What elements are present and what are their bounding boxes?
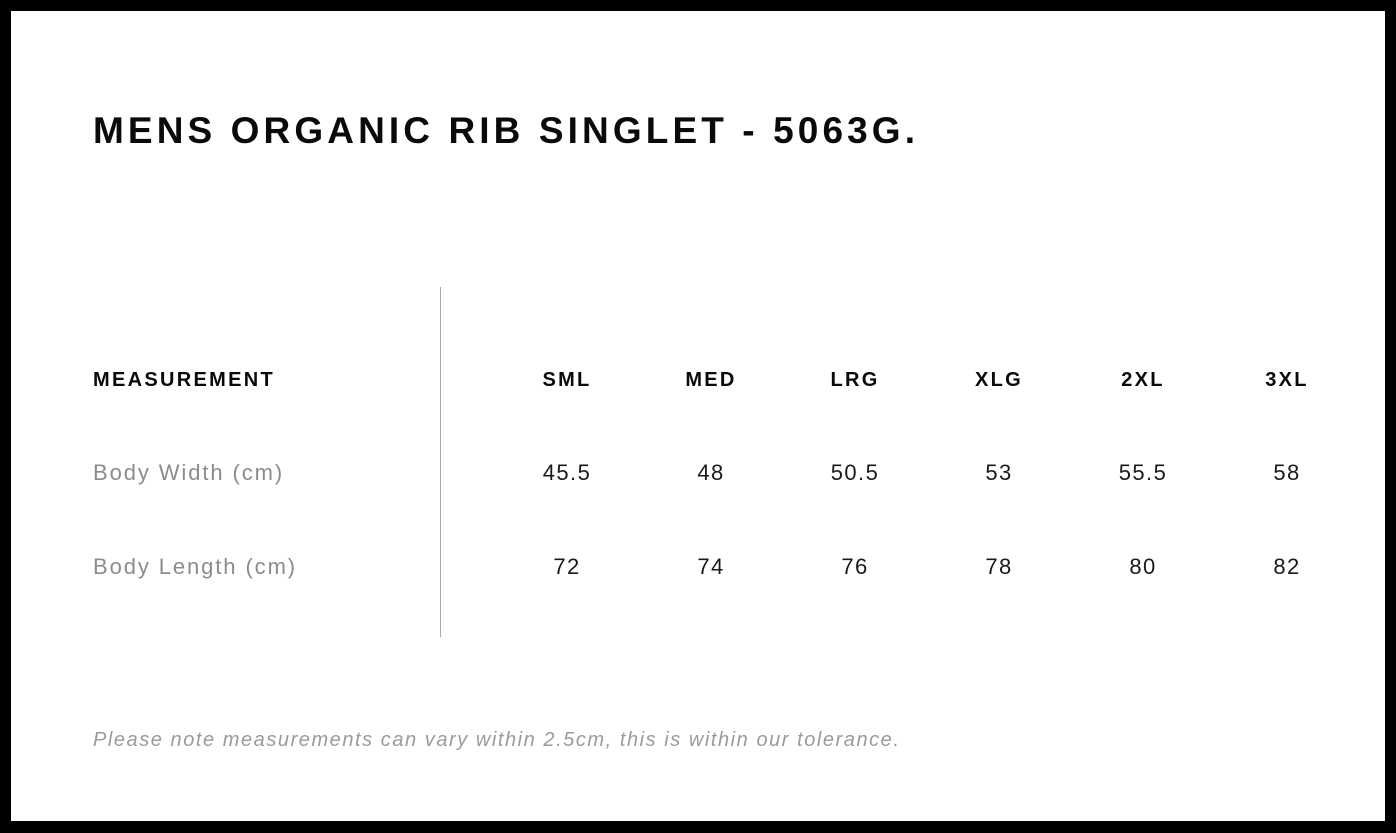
size-chart-table: MEASUREMENT SML MED LRG XLG 2XL 3XL Body…	[11, 11, 1385, 821]
column-header-sml: SML	[495, 369, 639, 392]
column-header-3xl: 3XL	[1215, 369, 1359, 392]
cell-body-width-2xl: 55.5	[1071, 460, 1215, 486]
column-header-med: MED	[639, 369, 783, 392]
row-label-body-length: Body Length (cm)	[93, 554, 297, 580]
column-header-lrg: LRG	[783, 369, 927, 392]
cell-body-length-med: 74	[639, 554, 783, 580]
row-label-body-width: Body Width (cm)	[93, 460, 284, 486]
cell-body-width-xlg: 53	[927, 460, 1071, 486]
column-header-measurement: MEASUREMENT	[93, 369, 275, 392]
cell-body-width-sml: 45.5	[495, 460, 639, 486]
column-divider	[440, 287, 441, 637]
cell-body-width-lrg: 50.5	[783, 460, 927, 486]
cell-body-width-med: 48	[639, 460, 783, 486]
cell-body-length-3xl: 82	[1215, 554, 1359, 580]
column-header-xlg: XLG	[927, 369, 1071, 392]
cell-body-length-xlg: 78	[927, 554, 1071, 580]
size-chart-card: MENS ORGANIC RIB SINGLET - 5063G. MEASUR…	[11, 11, 1385, 821]
column-header-2xl: 2XL	[1071, 369, 1215, 392]
cell-body-length-2xl: 80	[1071, 554, 1215, 580]
tolerance-note: Please note measurements can vary within…	[93, 729, 900, 752]
size-chart-frame: MENS ORGANIC RIB SINGLET - 5063G. MEASUR…	[0, 0, 1396, 833]
cell-body-length-lrg: 76	[783, 554, 927, 580]
cell-body-width-3xl: 58	[1215, 460, 1359, 486]
cell-body-length-sml: 72	[495, 554, 639, 580]
